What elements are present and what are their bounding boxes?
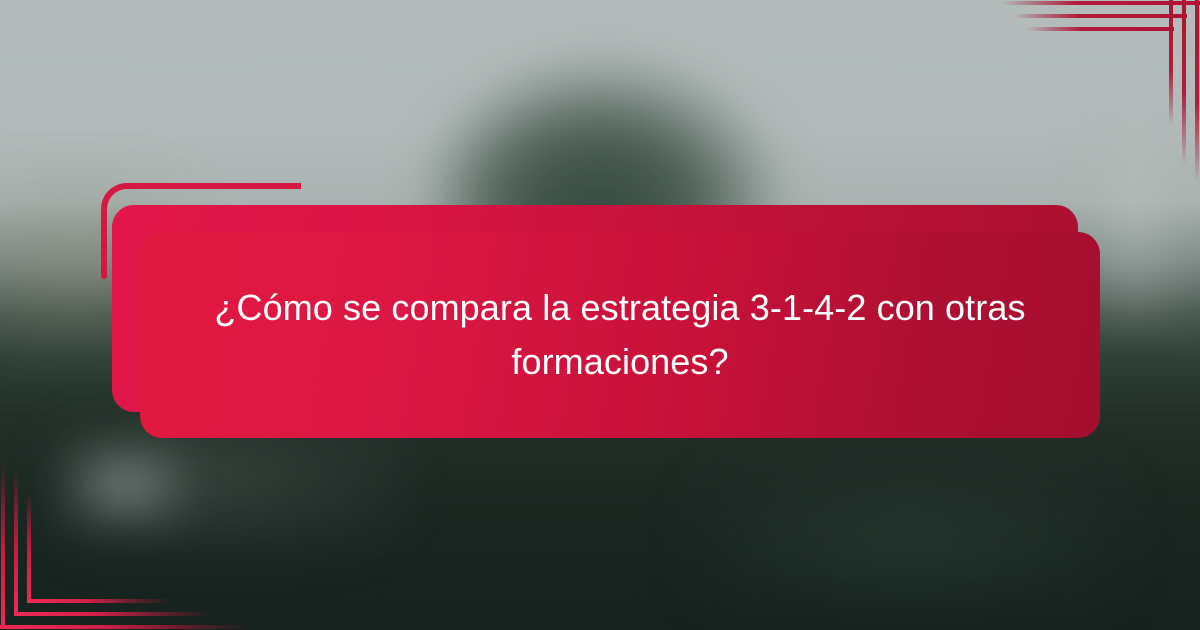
- background-highlight-lower-right: [700, 470, 1120, 610]
- headline-text: ¿Cómo se compara la estrategia 3-1-4-2 c…: [140, 232, 1100, 438]
- card-outline-accent-cap-right: [294, 183, 301, 189]
- card-outline-accent-cap-bottom: [101, 272, 107, 279]
- background-highlight-right: [1090, 120, 1180, 320]
- background-highlight-spot: [60, 440, 190, 530]
- share-card-canvas: ¿Cómo se compara la estrategia 3-1-4-2 c…: [0, 0, 1200, 630]
